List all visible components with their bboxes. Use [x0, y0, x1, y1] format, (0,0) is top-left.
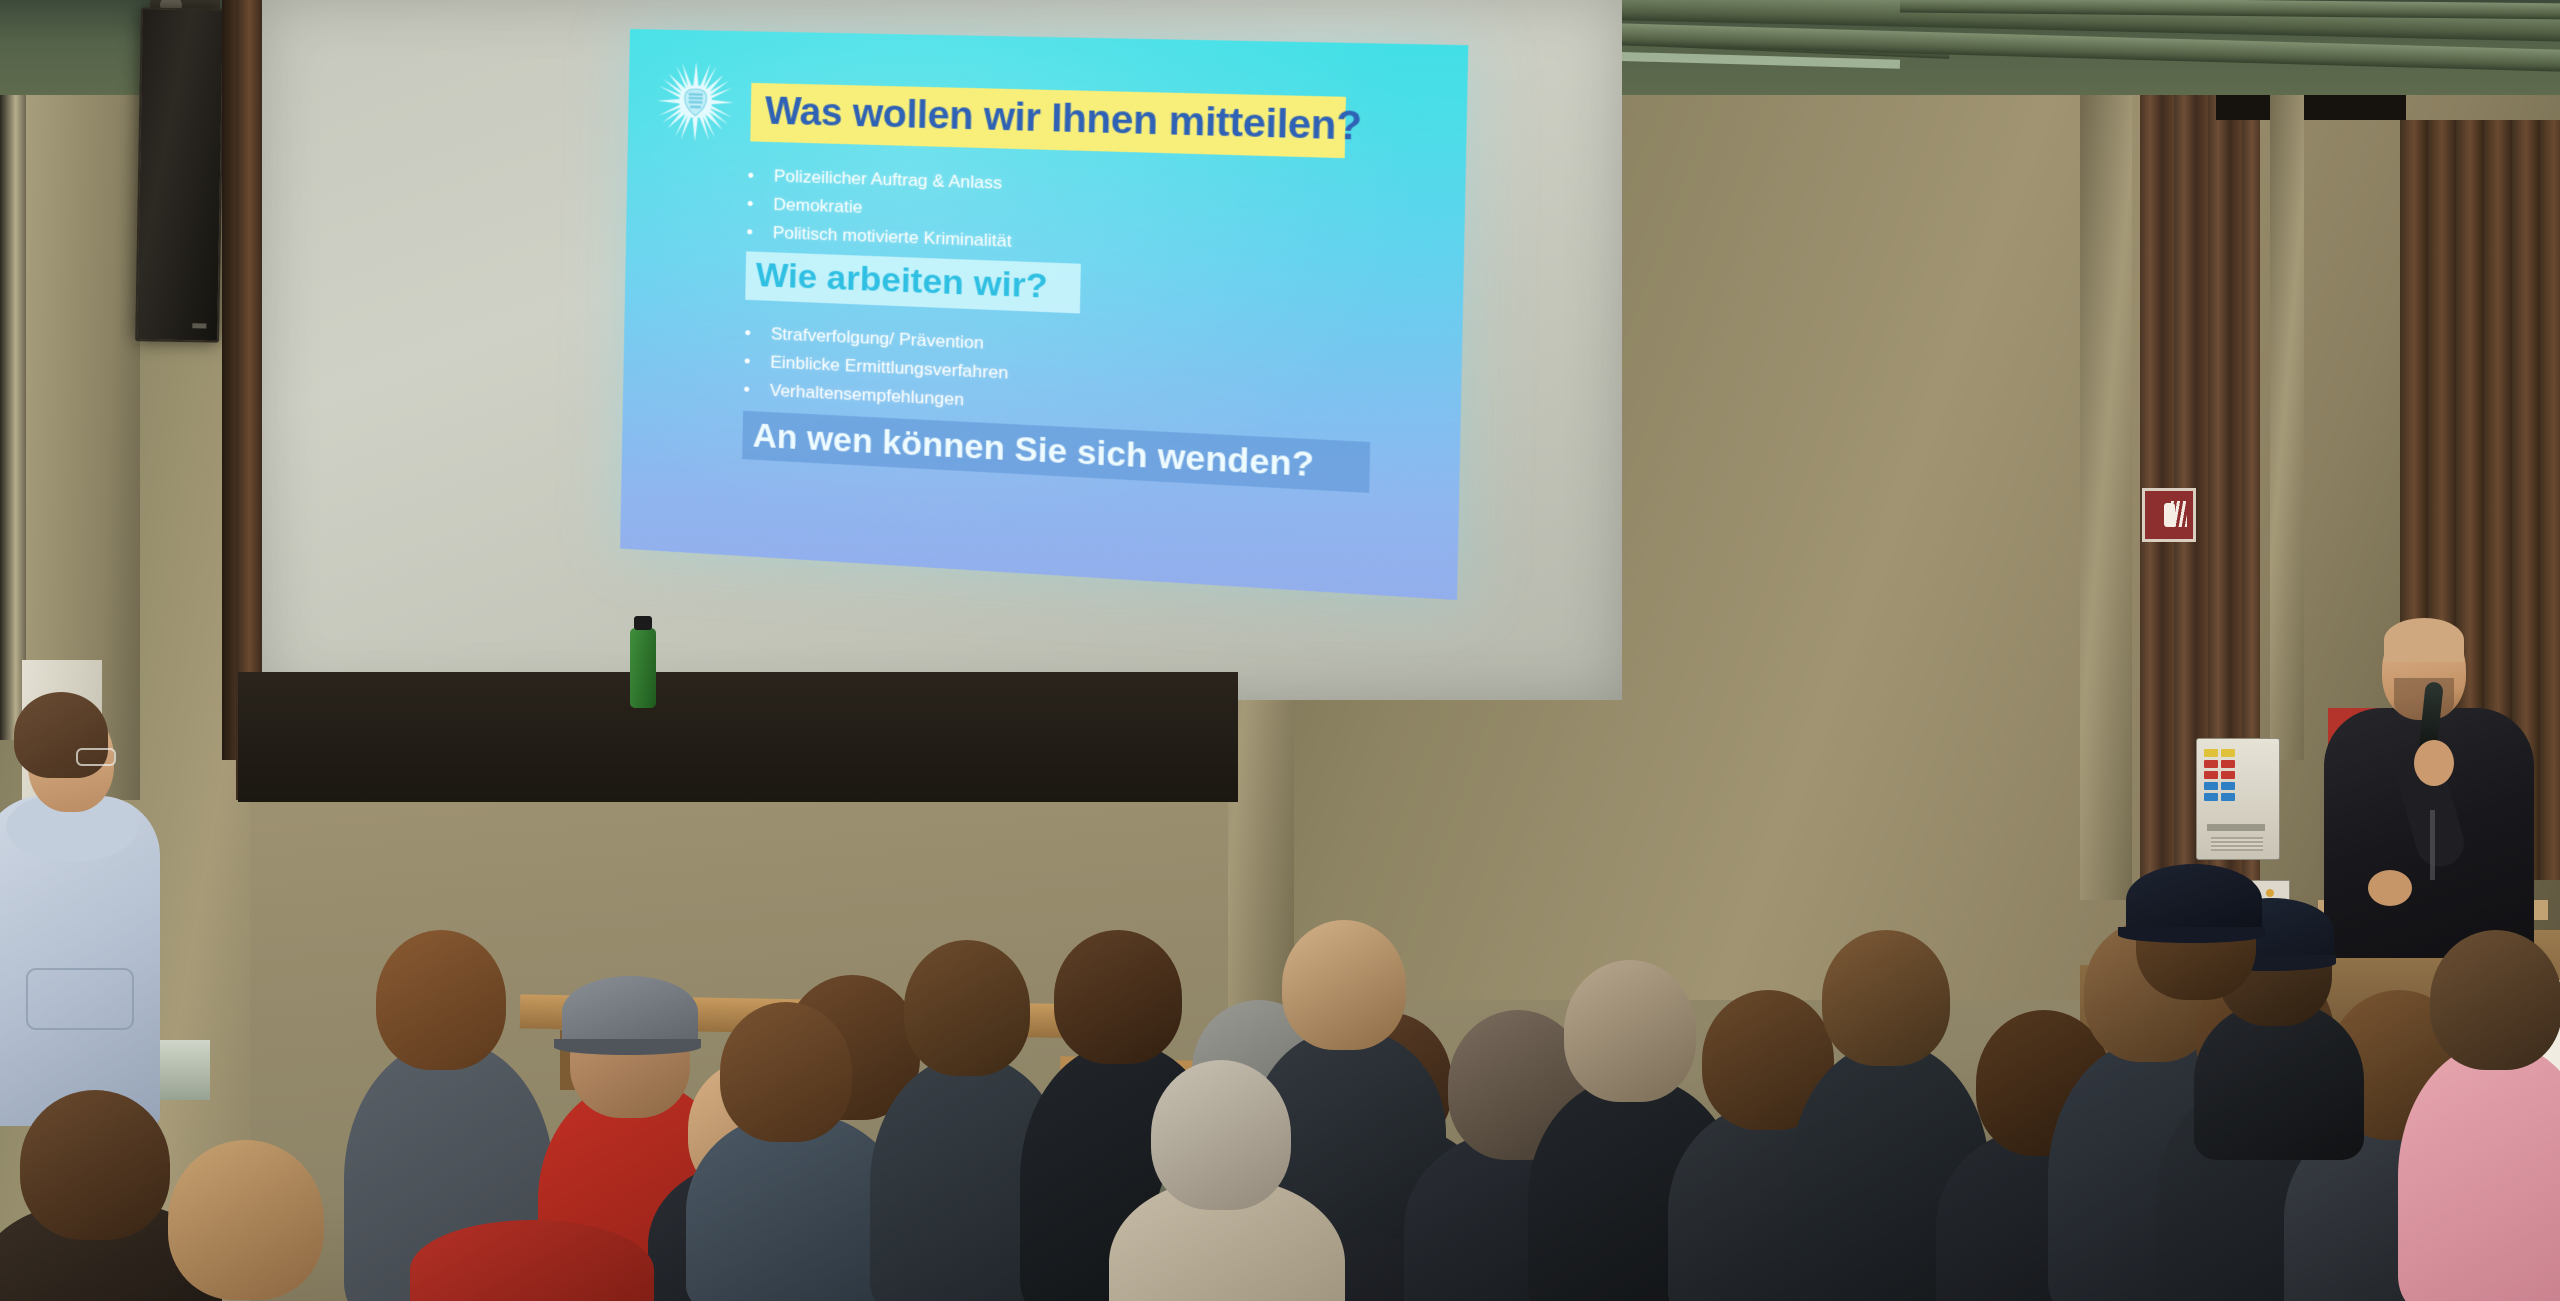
speaker-badge — [192, 323, 206, 328]
slide-heading3: An wen können Sie sich wenden? — [752, 416, 1314, 484]
cap-brim — [554, 1039, 701, 1055]
attendee-body — [410, 1220, 654, 1301]
intercom-key[interactable] — [2204, 793, 2218, 801]
bullet-label: Demokratie — [773, 195, 862, 218]
presenter-hand — [2414, 740, 2454, 786]
attendee-head — [1151, 1060, 1291, 1210]
slide-heading2-band: Wie arbeiten wir? — [745, 251, 1081, 313]
attendee-head — [2430, 930, 2560, 1070]
bullet-glyph: • — [747, 166, 774, 187]
screen-lower-wall — [238, 672, 1238, 802]
water-bottle[interactable] — [630, 628, 656, 708]
intercom-key[interactable] — [2221, 760, 2235, 768]
baseball-cap — [2126, 864, 2262, 936]
list-item: • Verhaltensempfehlungen — [743, 379, 1008, 412]
slide-bullet-list-1: • Polizeilicher Auftrag & Anlass • Demok… — [746, 166, 1013, 261]
lecture-hall-scene: Was wollen wir Ihnen mitteilen? • Polize… — [0, 0, 2560, 1301]
audience-member — [2120, 870, 2280, 1070]
audience-member — [430, 1160, 630, 1301]
intercom-key[interactable] — [2221, 749, 2235, 757]
flame-icon — [2171, 501, 2187, 527]
wall-pillar-3 — [2270, 0, 2304, 760]
intercom-speaker-grille — [2211, 837, 2263, 851]
bullet-label: Politisch motivierte Kriminalität — [773, 223, 1012, 252]
slide-bullet-list-2: • Strafverfolgung/ Prävention • Einblick… — [743, 323, 1009, 421]
eyeglasses — [76, 748, 116, 766]
audience-member — [2410, 930, 2560, 1301]
bullet-label: Strafverfolgung/ Prävention — [771, 324, 984, 354]
bullet-glyph: • — [747, 194, 774, 215]
presentation-slide: Was wollen wir Ihnen mitteilen? • Polize… — [620, 29, 1468, 600]
audience-member — [150, 1140, 350, 1301]
bullet-label: Polizeilicher Auftrag & Anlass — [774, 166, 1002, 193]
bottle-cap — [634, 616, 652, 630]
projection-screen: Was wollen wir Ihnen mitteilen? • Polize… — [262, 0, 1622, 700]
intercom-key[interactable] — [2221, 793, 2235, 801]
wall-speaker-left — [135, 7, 225, 342]
presenter-hand-lower — [2368, 870, 2412, 906]
standing-attendee-left — [0, 700, 170, 1120]
attendee-head — [20, 1090, 170, 1240]
list-item: • Strafverfolgung/ Prävention — [744, 323, 1009, 355]
list-item: • Polizeilicher Auftrag & Anlass — [747, 166, 1013, 195]
bullet-glyph: • — [746, 222, 773, 243]
bullet-glyph: • — [744, 351, 771, 372]
attendee-head — [376, 930, 506, 1070]
attendee-head — [720, 1002, 852, 1142]
slide-title: Was wollen wir Ihnen mitteilen? — [765, 90, 1362, 150]
attendee-body — [2398, 1042, 2560, 1301]
bullet-label: Einblicke Ermittlungsverfahren — [770, 352, 1008, 383]
wall-pillar-2 — [2080, 0, 2132, 900]
list-item: • Einblicke Ermittlungsverfahren — [744, 351, 1009, 384]
audience-member — [1125, 1060, 1325, 1301]
attendee-head — [1822, 930, 1950, 1066]
intercom-key[interactable] — [2204, 760, 2218, 768]
bullet-label: Verhaltensempfehlungen — [770, 381, 965, 411]
intercom-key[interactable] — [2204, 749, 2218, 757]
slide-heading3-band: An wen können Sie sich wenden? — [742, 411, 1370, 493]
intercom-panel[interactable] — [2196, 738, 2280, 860]
intercom-slot — [2207, 824, 2265, 831]
intercom-key[interactable] — [2204, 771, 2218, 779]
attendee-head — [1282, 920, 1406, 1050]
intercom-buttons[interactable] — [2204, 749, 2235, 801]
intercom-key[interactable] — [2221, 771, 2235, 779]
attendee-head — [1564, 960, 1696, 1102]
attendee-head — [168, 1140, 324, 1300]
audience-member — [700, 1002, 890, 1301]
presenter-scalp — [2384, 618, 2464, 662]
intercom-key[interactable] — [2221, 782, 2235, 790]
fire-extinguisher-sign — [2142, 488, 2196, 542]
cap-brim — [2118, 927, 2265, 943]
slide-heading2: Wie arbeiten wir? — [755, 256, 1048, 307]
slide-title-band: Was wollen wir Ihnen mitteilen? — [750, 83, 1346, 158]
intercom-key[interactable] — [2204, 782, 2218, 790]
baseball-cap — [562, 976, 698, 1048]
hessen-police-star-icon — [656, 60, 736, 144]
list-item: • Politisch motivierte Kriminalität — [746, 222, 1012, 252]
attendee-head — [904, 940, 1030, 1076]
left-wall-edge — [0, 0, 26, 740]
bullet-glyph: • — [744, 323, 771, 344]
list-item: • Demokratie — [747, 194, 1013, 223]
hoodie-pocket — [26, 968, 134, 1030]
jacket-zipper — [2430, 810, 2435, 880]
bullet-glyph: • — [743, 379, 770, 400]
attendee-head — [1054, 930, 1182, 1064]
